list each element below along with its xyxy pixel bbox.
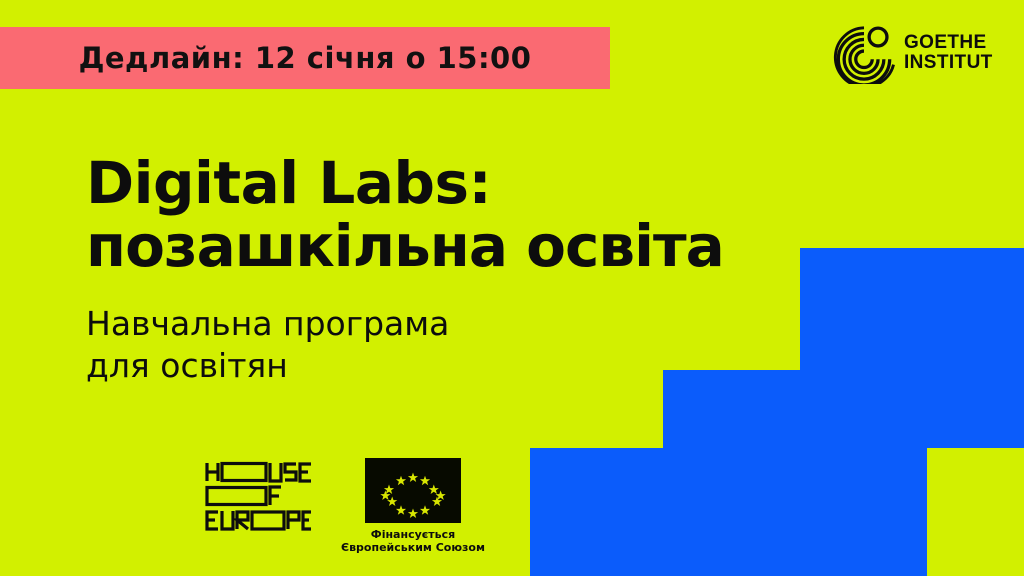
goethe-word-institut: INSTITUT xyxy=(904,53,993,73)
page-title-line-2: позашкільна освіта xyxy=(86,215,726,278)
page-subtitle-line-1: Навчальна програма xyxy=(86,303,606,345)
goethe-wordmark: GOETHE INSTITUT xyxy=(904,33,993,73)
page-subtitle-line-2: для освітян xyxy=(86,345,606,387)
goethe-word-goethe: GOETHE xyxy=(904,33,993,53)
eu-caption-line-2: Європейським Союзом xyxy=(341,542,485,555)
deadline-banner: Дедлайн: 12 січня о 15:00 xyxy=(0,27,610,89)
blue-shape-step-middle xyxy=(663,370,1024,448)
european-union-flag-icon xyxy=(365,458,461,523)
poster-canvas: Дедлайн: 12 січня о 15:00 Digital Labs: … xyxy=(0,0,1024,576)
page-title: Digital Labs: позашкільна освіта xyxy=(86,152,726,277)
goethe-institut-logo: GOETHE INSTITUT xyxy=(833,22,993,84)
deadline-text: Дедлайн: 12 січня о 15:00 xyxy=(79,41,532,75)
page-title-line-1: Digital Labs: xyxy=(86,152,726,215)
goethe-concentric-arcs-icon xyxy=(833,22,895,84)
blue-shape-step-top xyxy=(800,248,1024,370)
blue-shape-step-bottom xyxy=(530,448,927,576)
eu-funding-caption: Фінансується Європейським Союзом xyxy=(341,529,485,555)
page-subtitle: Навчальна програма для освітян xyxy=(86,303,606,387)
house-of-europe-wordmark-icon xyxy=(204,461,314,531)
house-of-europe-logo xyxy=(204,461,314,531)
eu-funding-block: Фінансується Європейським Союзом xyxy=(325,458,501,555)
